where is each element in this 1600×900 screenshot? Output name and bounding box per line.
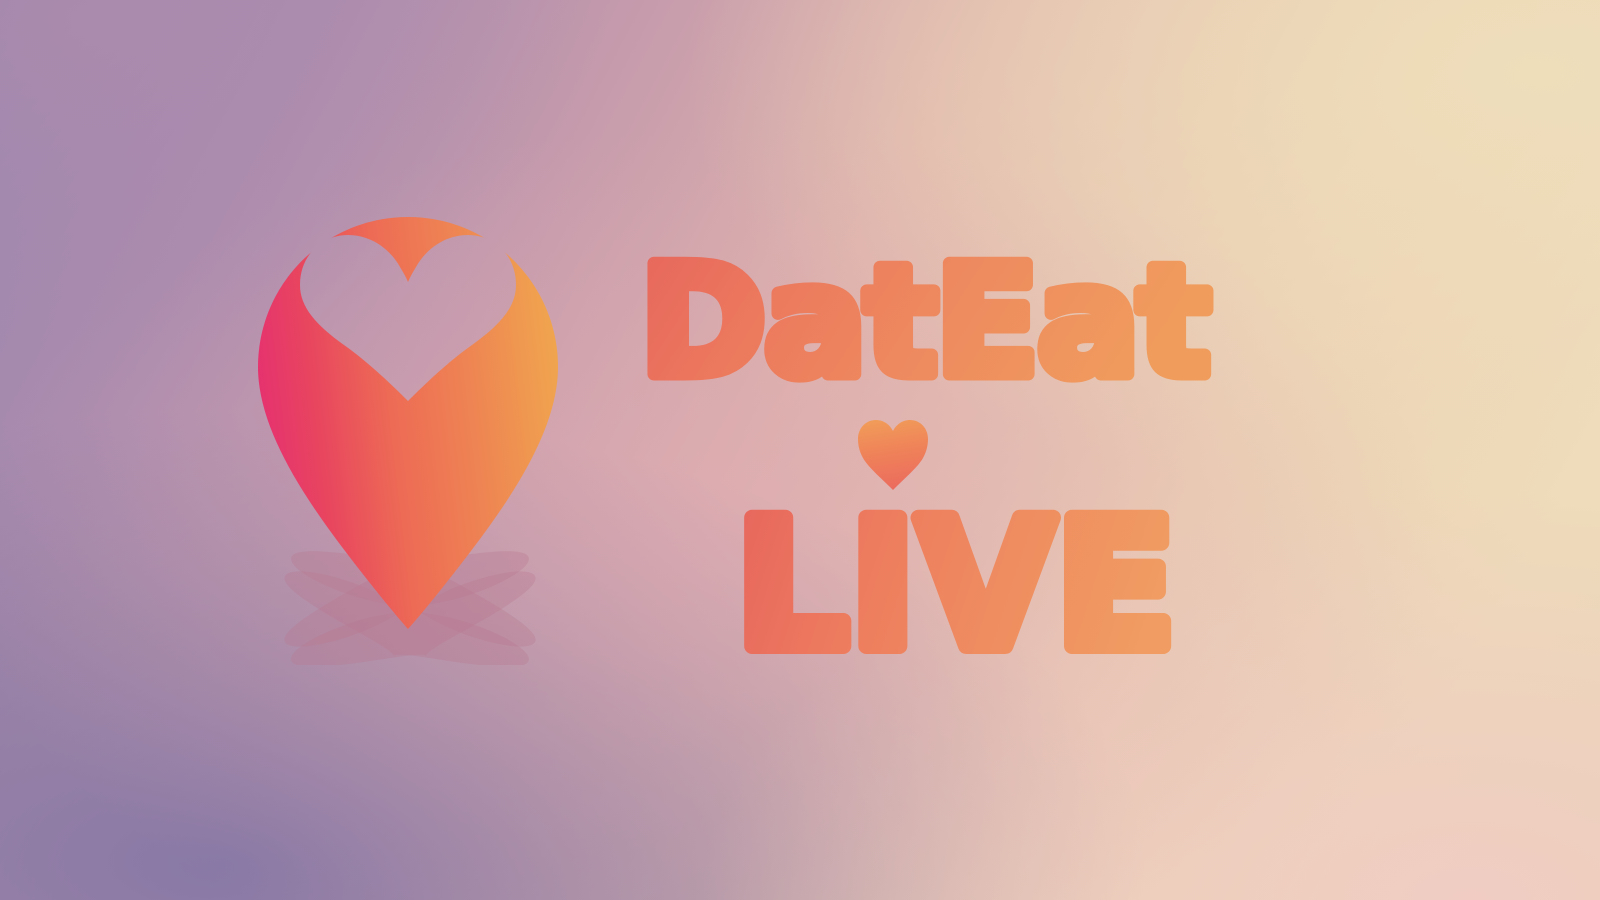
brand-name-glyphs: DatEat [640, 248, 1208, 408]
heart-icon [858, 420, 928, 492]
brand-name-value: DatEat [640, 408, 641, 409]
brand-name-text: DatEat DatEat [640, 248, 1360, 408]
logo-canvas: DatEat DatEat [0, 0, 1600, 900]
map-pin-heart-icon [238, 205, 578, 665]
tagline-value: LIVE [736, 668, 737, 669]
tagline-text: LIVE LIVE [736, 496, 1256, 668]
wordmark: DatEat DatEat [640, 248, 1360, 678]
tagline-glyphs: LIVE [736, 496, 1178, 668]
